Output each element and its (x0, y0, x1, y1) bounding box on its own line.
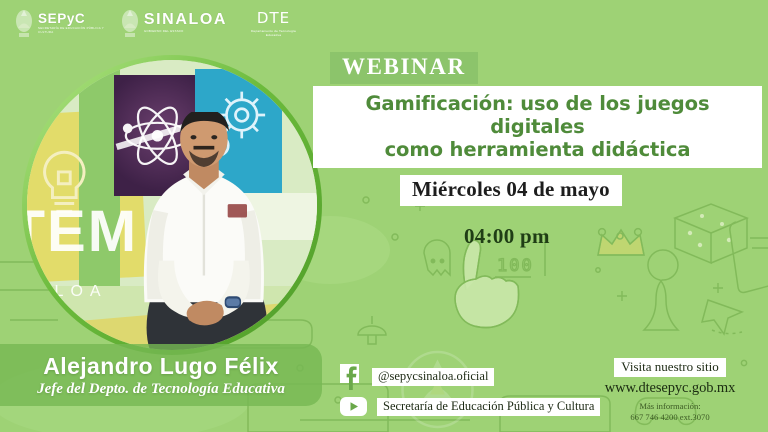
youtube-icon[interactable] (340, 397, 367, 416)
social-row-facebook[interactable]: @sepycsinaloa.oficial (340, 364, 600, 390)
speaker-name: Alejandro Lugo Félix (43, 353, 278, 380)
more-info-phone: 667 746 4200 ext.3070 (580, 412, 760, 423)
webinar-poster: 100 (0, 0, 768, 432)
youtube-channel-name[interactable]: Secretaría de Educación Pública y Cultur… (377, 398, 600, 416)
sinaloa-state-crest-icon (120, 8, 140, 38)
social-links: @sepycsinaloa.oficial Secretaría de Educ… (340, 364, 600, 416)
webinar-label-text: WEBINAR (342, 54, 466, 79)
logo-sinaloa-wordmark: SINALOA (144, 12, 227, 28)
speaker-photo-ring: TEM NALOA (22, 55, 322, 355)
logo-sinaloa-subtitle: GOBIERNO DEL ESTADO (144, 30, 227, 34)
more-info-label: Más información: (580, 401, 760, 412)
logo-dte: DTE Departamento de Tecnología Educativa (247, 9, 300, 38)
facebook-handle[interactable]: @sepycsinaloa.oficial (372, 368, 494, 386)
website-url[interactable]: www.dtesepyc.gob.mx (580, 380, 760, 397)
webinar-label: WEBINAR (330, 52, 478, 84)
webinar-title-line-1: Gamificación: uso de los juegos digitale… (321, 92, 754, 138)
webinar-title-box: Gamificación: uso de los juegos digitale… (313, 86, 762, 168)
speaker-portrait-figure (114, 112, 294, 350)
institutional-logo-bar: SEPyC SECRETARÍA DE EDUCACIÓN PÚBLICA Y … (0, 0, 300, 46)
logo-dte-wordmark: DTE (257, 9, 290, 27)
svg-text:100: 100 (497, 256, 534, 276)
webinar-time-text: 04:00 pm (464, 224, 550, 249)
social-row-youtube[interactable]: Secretaría de Educación Pública y Cultur… (340, 397, 600, 416)
sinaloa-state-crest-icon (14, 8, 34, 38)
logo-dte-subtitle: Departamento de Tecnología Educativa (247, 29, 300, 38)
speaker-photo: TEM NALOA (27, 60, 317, 350)
webinar-date-box: Miércoles 04 de mayo (400, 175, 622, 206)
facebook-icon[interactable] (340, 364, 362, 390)
speaker-name-banner: Alejandro Lugo Félix Jefe del Depto. de … (0, 344, 322, 406)
webinar-title-line-2: como herramienta didáctica (321, 138, 754, 161)
logo-sepyc-wordmark: SEPyC (38, 12, 106, 26)
webinar-date-text: Miércoles 04 de mayo (412, 177, 610, 201)
logo-sepyc: SEPyC SECRETARÍA DE EDUCACIÓN PÚBLICA Y … (14, 8, 106, 38)
logo-sinaloa: SINALOA GOBIERNO DEL ESTADO (120, 8, 227, 38)
website-block: Visita nuestro sitio www.dtesepyc.gob.mx… (580, 358, 760, 422)
logo-sepyc-subtitle: SECRETARÍA DE EDUCACIÓN PÚBLICA Y CULTUR… (38, 27, 106, 35)
photo-backdrop-sinaloa-text: NALOA (27, 283, 108, 301)
website-tagline: Visita nuestro sitio (614, 358, 725, 377)
speaker-role: Jefe del Depto. de Tecnología Educativa (37, 381, 285, 398)
